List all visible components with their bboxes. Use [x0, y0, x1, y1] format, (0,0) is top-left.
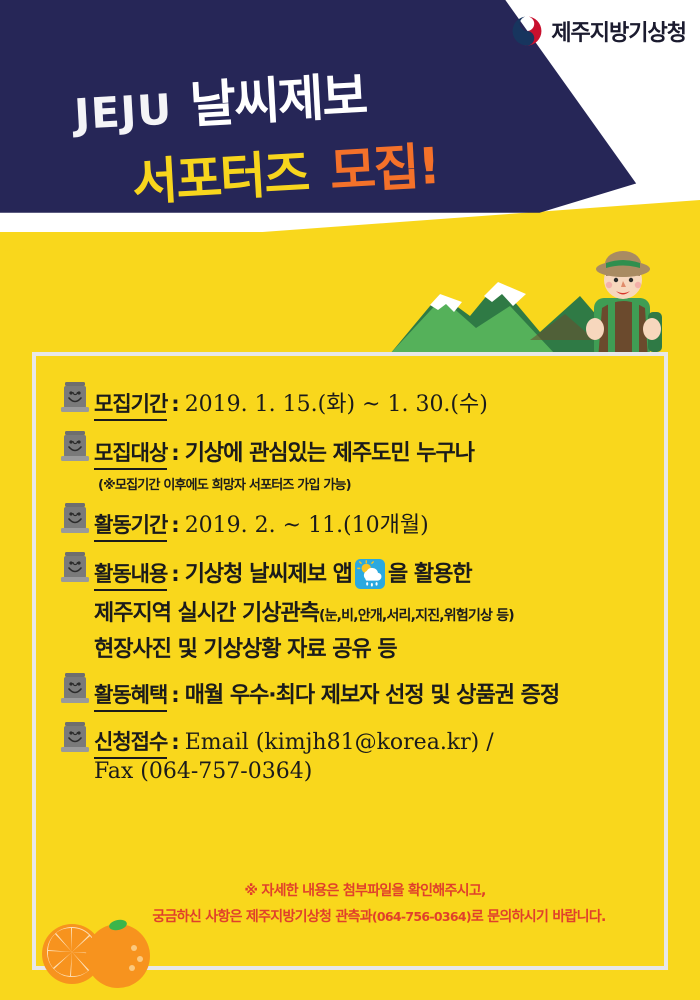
row-value-before-app: 기상청 날씨제보 앱 [185, 556, 352, 588]
info-row-activity-period: 활동기간 : 2019. 2. ~ 11.(10개월) [60, 499, 664, 542]
weather-report-app-icon[interactable] [355, 559, 385, 589]
row-label: 모집기간 [94, 388, 167, 421]
row-colon: : [171, 392, 179, 416]
title-jeju: JEJU [73, 85, 174, 139]
mailbox-smiley-icon [60, 671, 90, 705]
agency-logo: 제주지방기상청 [510, 14, 686, 48]
row-head: 활동내용 : 기상청 날씨제보 앱 [94, 556, 664, 591]
content-card: 모집기간 : 2019. 1. 15.(화) ~ 1. 30.(수) [32, 352, 668, 970]
row-line-2-paren: (눈,비,안개,서리,지진,위험기상 등) [319, 605, 514, 625]
row-label: 활동혜택 [94, 679, 167, 712]
korea-government-taegeuk-icon [510, 14, 544, 48]
footer-line-2-post: 로 문의하시기 바랍니다. [471, 909, 606, 925]
row-head: 활동기간 : 2019. 2. ~ 11.(10개월) [94, 507, 664, 542]
row-line-2-main: 제주지역 실시간 기상관측 [94, 595, 319, 627]
hiker-and-mountain-illustration [380, 236, 700, 366]
row-label: 모집대상 [94, 437, 167, 470]
footer-line-2-pre: 궁금하신 사항은 제주지방기상청 관측과 [152, 909, 372, 925]
mailbox-smiley-icon [60, 501, 90, 535]
row-value-after-app: 을 활용한 [388, 556, 472, 588]
row-head: 신청접수 : Email (kimjh81@korea.kr) / [94, 726, 664, 759]
info-rows: 모집기간 : 2019. 1. 15.(화) ~ 1. 30.(수) [36, 356, 664, 784]
row-value-email[interactable]: Email (kimjh81@korea.kr) / [185, 730, 494, 755]
row-line-2: 제주지역 실시간 기상관측 (눈,비,안개,서리,지진,위험기상 등) [94, 595, 664, 627]
row-label: 활동내용 [94, 558, 167, 591]
footer-phone: (064-756-0364) [372, 909, 471, 924]
row-head: 모집기간 : 2019. 1. 15.(화) ~ 1. 30.(수) [94, 386, 664, 421]
row-colon: : [171, 730, 179, 754]
row-colon: : [171, 683, 179, 707]
info-row-recruit-period: 모집기간 : 2019. 1. 15.(화) ~ 1. 30.(수) [60, 378, 664, 421]
mailbox-smiley-icon [60, 720, 90, 754]
row-body: 신청접수 : Email (kimjh81@korea.kr) / Fax (0… [94, 718, 664, 784]
row-label: 신청접수 [94, 726, 167, 759]
row-head: 활동혜택 : 매월 우수·최다 제보자 선정 및 상품권 증정 [94, 677, 664, 712]
row-colon: : [171, 441, 179, 465]
title-weather-report: 날씨제보 [188, 56, 368, 138]
row-value-fax: Fax (064-757-0364) [94, 759, 664, 784]
row-body: 활동기간 : 2019. 2. ~ 11.(10개월) [94, 499, 664, 542]
row-line-3: 현장사진 및 기상상황 자료 공유 등 [94, 631, 664, 663]
row-value: 2019. 2. ~ 11.(10개월) [185, 507, 429, 539]
title-supporters: 서포터즈 [130, 133, 310, 215]
row-subnote: (※모집기간 이후에도 희망자 서포터즈 가입 가능) [98, 474, 664, 493]
row-body: 모집기간 : 2019. 1. 15.(화) ~ 1. 30.(수) [94, 378, 664, 421]
info-row-application: 신청접수 : Email (kimjh81@korea.kr) / Fax (0… [60, 718, 664, 784]
mailbox-smiley-icon [60, 550, 90, 584]
hiker-with-backpack-icon [586, 251, 662, 360]
mailbox-smiley-icon [60, 380, 90, 414]
row-label: 활동기간 [94, 509, 167, 542]
info-row-activity-content: 활동내용 : 기상청 날씨제보 앱 [60, 548, 664, 663]
tangerine-fruit-icon [30, 912, 160, 992]
row-value: 매월 우수·최다 제보자 선정 및 상품권 증정 [185, 677, 559, 709]
row-body: 활동혜택 : 매월 우수·최다 제보자 선정 및 상품권 증정 [94, 669, 664, 712]
row-colon: : [171, 513, 179, 537]
info-row-target: 모집대상 : 기상에 관심있는 제주도민 누구나 (※모집기간 이후에도 희망자… [60, 427, 664, 493]
footer-line-1: ※ 자세한 내용은 첨부파일을 확인해주시고, [36, 880, 672, 900]
row-colon: : [171, 562, 179, 586]
row-head: 모집대상 : 기상에 관심있는 제주도민 누구나 [94, 435, 664, 470]
row-value: 기상에 관심있는 제주도민 누구나 [185, 435, 474, 467]
info-row-benefits: 활동혜택 : 매월 우수·최다 제보자 선정 및 상품권 증정 [60, 669, 664, 712]
row-body: 활동내용 : 기상청 날씨제보 앱 [94, 548, 664, 663]
row-value: 2019. 1. 15.(화) ~ 1. 30.(수) [185, 386, 488, 418]
title-recruit: 모집! [328, 126, 441, 204]
poster-root: 제주지방기상청 JEJU 날씨제보 서포터즈 모집! [0, 0, 700, 1000]
agency-name: 제주지방기상청 [551, 15, 686, 47]
row-body: 모집대상 : 기상에 관심있는 제주도민 누구나 (※모집기간 이후에도 희망자… [94, 427, 664, 493]
mailbox-smiley-icon [60, 429, 90, 463]
